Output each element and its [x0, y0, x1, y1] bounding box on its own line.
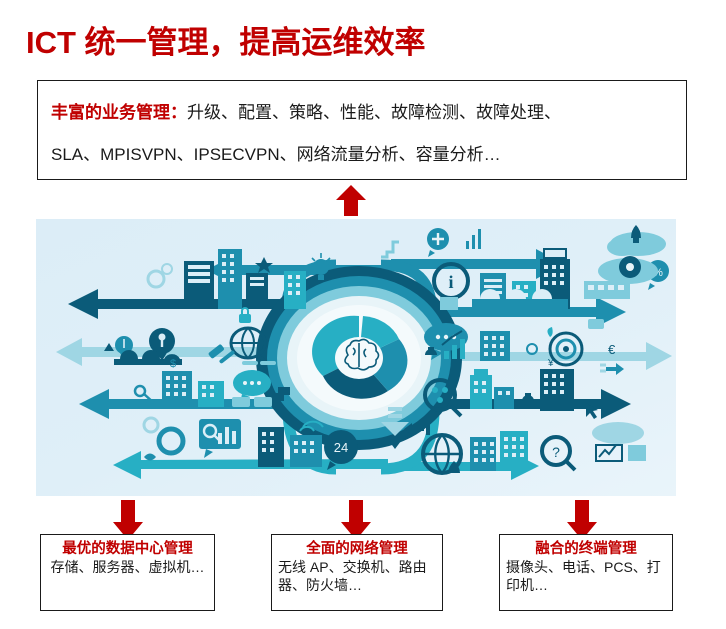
arrow-up-icon	[336, 185, 366, 216]
svg-text:$: $	[170, 358, 176, 370]
box-3-body: 摄像头、电话、PCS、打印机…	[500, 558, 672, 594]
box-2-title: 全面的网络管理	[272, 540, 442, 558]
svg-text:¥: ¥	[547, 358, 554, 369]
box-1-title: 最优的数据中心管理	[41, 540, 214, 558]
svg-text:€: €	[608, 342, 616, 357]
box-3-title: 融合的终端管理	[500, 540, 672, 558]
business-management-textbox: 丰富的业务管理：升级、配置、策略、性能、故障检测、故障处理、 SLA、MPISV…	[37, 80, 687, 180]
infographic-svg: $	[36, 219, 676, 496]
box-network-management: 全面的网络管理 无线 AP、交换机、路由器、防火墙…	[271, 534, 443, 611]
box-2-body: 无线 AP、交换机、路由器、防火墙…	[272, 558, 442, 594]
page-title: ICT 统一管理，提高运维效率	[26, 17, 426, 62]
box-terminal-management: 融合的终端管理 摄像头、电话、PCS、打印机…	[499, 534, 673, 611]
slide-canvas: ICT 统一管理，提高运维效率 丰富的业务管理：升级、配置、策略、性能、故障检测…	[0, 0, 726, 629]
textbox-line-2: SLA、MPISVPN、IPSECVPN、网络流量分析、容量分析…	[51, 140, 501, 165]
ict-infographic: $	[36, 219, 676, 496]
box-1-body: 存储、服务器、虚拟机…	[41, 558, 214, 576]
svg-text:?: ?	[552, 444, 560, 460]
svg-text:24: 24	[334, 440, 348, 455]
textbox-label: 丰富的业务管理：	[51, 103, 187, 122]
textbox-line1-rest: 升级、配置、策略、性能、故障检测、故障处理、	[187, 103, 561, 122]
svg-text:i: i	[448, 272, 453, 292]
box-datacenter-management: 最优的数据中心管理 存储、服务器、虚拟机…	[40, 534, 215, 611]
textbox-line-1: 丰富的业务管理：升级、配置、策略、性能、故障检测、故障处理、	[51, 98, 561, 123]
